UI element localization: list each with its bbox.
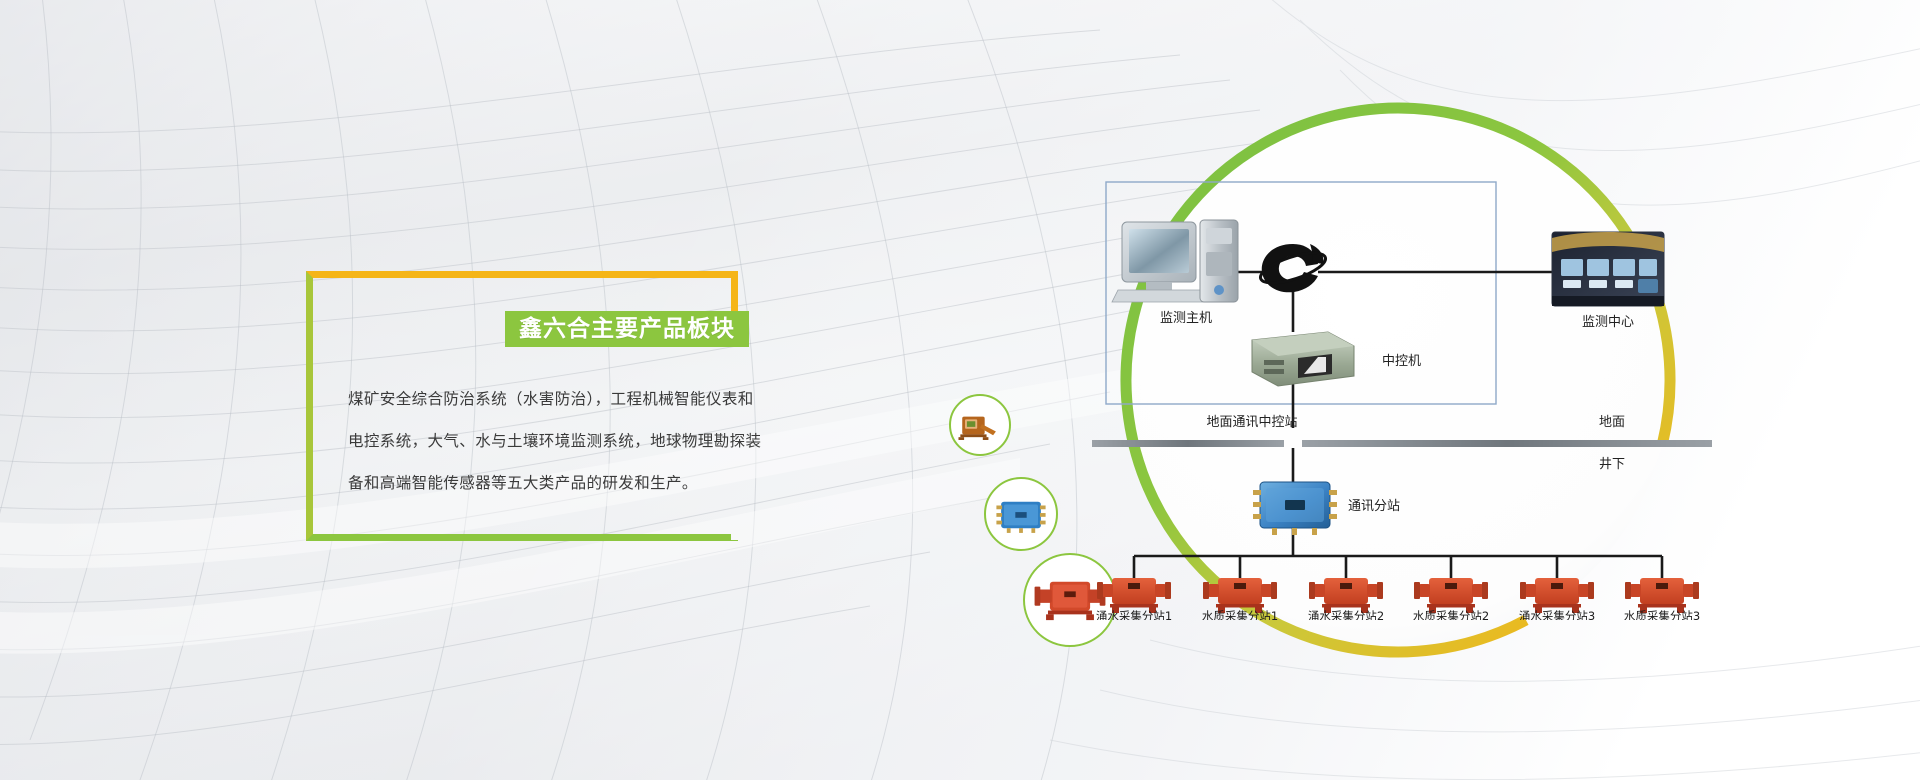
substation-label: 涌水采集分站2 [1308,609,1384,620]
system-architecture-diagram: 监测主机 [1082,160,1722,620]
description-line-1: 煤矿安全综合防治系统（水害防治），工程机械智能仪表和 [348,378,868,420]
instrument-photo-icon [951,394,1009,456]
zone-label-above-ground: 地面 [1599,415,1625,430]
zone-label-underground: 井下 [1599,457,1625,472]
monitor-host-figure [1112,220,1238,302]
substation-label: 涌水采集分站3 [1519,609,1595,620]
description-line-3: 备和高端智能传感器等五大类产品的研发和生产。 [348,462,868,504]
architecture-svg: 监测主机 [1082,160,1722,620]
substation-labels: 涌水采集分站1 水质采集分站1 涌水采集分站2 水质采集分站2 涌水采集分站3 … [1096,609,1700,620]
substation-label: 水质采集分站1 [1202,609,1278,620]
substation-figure [1414,578,1488,613]
description-line-2: 电控系统，大气、水与土壤环境监测系统，地球物理勘探装 [348,420,868,462]
substation-label: 水质采集分站3 [1624,609,1700,620]
substation-label: 涌水采集分站1 [1096,609,1172,620]
node-label-monitor-center: 监测中心 [1582,315,1634,330]
surface-station-label: 地面通讯中控站 [1206,415,1297,430]
product-system-graphic: 监测主机 [900,0,1920,780]
section-title-banner: 鑫六合主要产品板块 [505,311,749,347]
page-title: 鑫六合主要产品板块 [519,318,735,341]
blue-junction-box-icon [986,477,1056,551]
network-symbol [1257,244,1328,292]
section-description: 煤矿安全综合防治系统（水害防治），工程机械智能仪表和 电控系统，大气、水与土壤环… [348,378,868,504]
node-label-comm-substation: 通讯分站 [1348,499,1400,514]
node-label-monitor-host: 监测主机 [1160,311,1212,326]
substation-label: 水质采集分站2 [1413,609,1489,620]
node-label-central-control: 中控机 [1382,354,1421,369]
product-bubble-instrument[interactable] [949,394,1011,456]
left-content-panel: 鑫六合主要产品板块 煤矿安全综合防治系统（水害防治），工程机械智能仪表和 电控系… [0,0,900,780]
frame-corner-accent [731,540,738,541]
substation-figure [1309,578,1383,613]
substation-figure [1625,578,1699,613]
central-control-figure [1252,332,1354,386]
monitor-center-figure [1552,232,1664,306]
product-bubble-junction-box[interactable] [984,477,1058,551]
comm-substation-figure [1253,482,1337,535]
substation-figure [1520,578,1594,613]
substation-figure [1203,578,1277,613]
substation-row [1097,578,1699,613]
substation-figure [1097,578,1171,613]
ground-line [1092,440,1712,447]
